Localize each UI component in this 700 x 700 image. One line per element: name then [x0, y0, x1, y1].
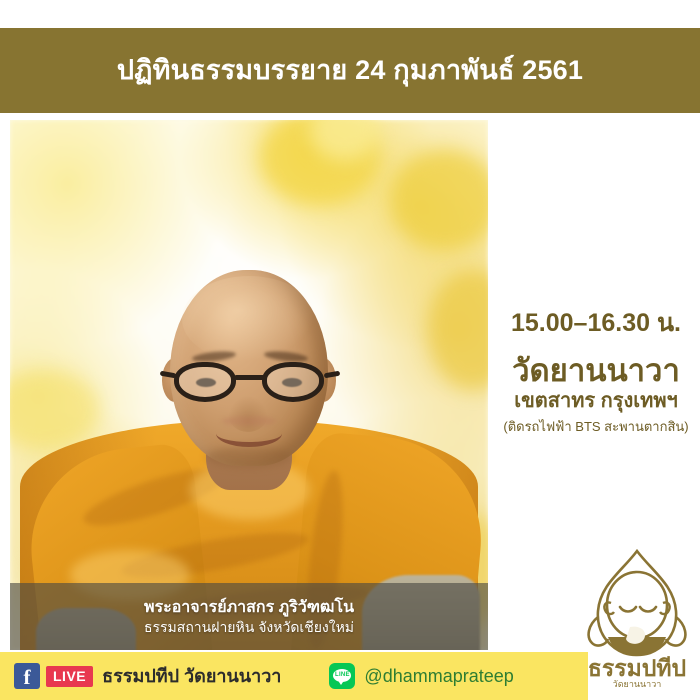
line-bubble-tail [337, 679, 345, 685]
facebook-page-name[interactable]: ธรรมปทีป วัดยานนาวา [102, 667, 281, 685]
speaker-photo: พระอาจารย์ภาสกร ภูริวัฑฒโน ธรรมสถานฝายหิ… [10, 120, 488, 650]
chin-shadow [206, 446, 292, 468]
photo-caption-band: พระอาจารย์ภาสกร ภูริวัฑฒโน ธรรมสถานฝายหิ… [10, 583, 488, 650]
page-title: ปฏิทินธรรมบรรยาย 24 กุมภาพันธ์ 2561 [117, 57, 583, 84]
header-bar: ปฏิทินธรรมบรรยาย 24 กุมภาพันธ์ 2561 [0, 28, 700, 113]
facebook-f-glyph: f [14, 665, 40, 689]
poster-root: ปฏิทินธรรมบรรยาย 24 กุมภาพันธ์ 2561 [0, 0, 700, 700]
event-district: เขตสาทร กรุงเทพฯ [494, 390, 698, 413]
footer-bar: f LIVE ธรรมปทีป วัดยานนาวา LINE @dhammap… [0, 652, 588, 700]
facebook-icon[interactable]: f [14, 663, 40, 689]
mouth-smile [216, 420, 282, 447]
glasses-bridge [234, 375, 266, 380]
event-transit-note: (ติดรถไฟฟ้า BTS สะพานตากสิน) [494, 419, 698, 435]
event-time: 15.00–16.30 น. [494, 310, 698, 338]
monk-portrait-icon [10, 120, 488, 650]
dhamma-prateep-monk-logo-icon: ธรรมปทีป วัดยานนาวา [578, 545, 696, 690]
event-venue: วัดยานนาวา [494, 354, 698, 388]
scalp-highlight [182, 276, 316, 362]
logo-name: ธรรมปทีป [588, 655, 686, 681]
live-badge: LIVE [46, 666, 93, 687]
logo-subtitle: วัดยานนาวา [613, 679, 662, 689]
lens-left [174, 362, 236, 402]
lens-right [262, 362, 324, 402]
event-details: 15.00–16.30 น. วัดยานนาวา เขตสาทร กรุงเท… [494, 310, 698, 434]
line-icon[interactable]: LINE [329, 663, 355, 689]
speaker-affiliation: ธรรมสถานฝายหิน จังหวัดเชียงใหม่ [144, 620, 354, 634]
line-id[interactable]: @dhammaprateep [364, 667, 513, 685]
speaker-name: พระอาจารย์ภาสกร ภูริวัฑฒโน [144, 600, 354, 616]
